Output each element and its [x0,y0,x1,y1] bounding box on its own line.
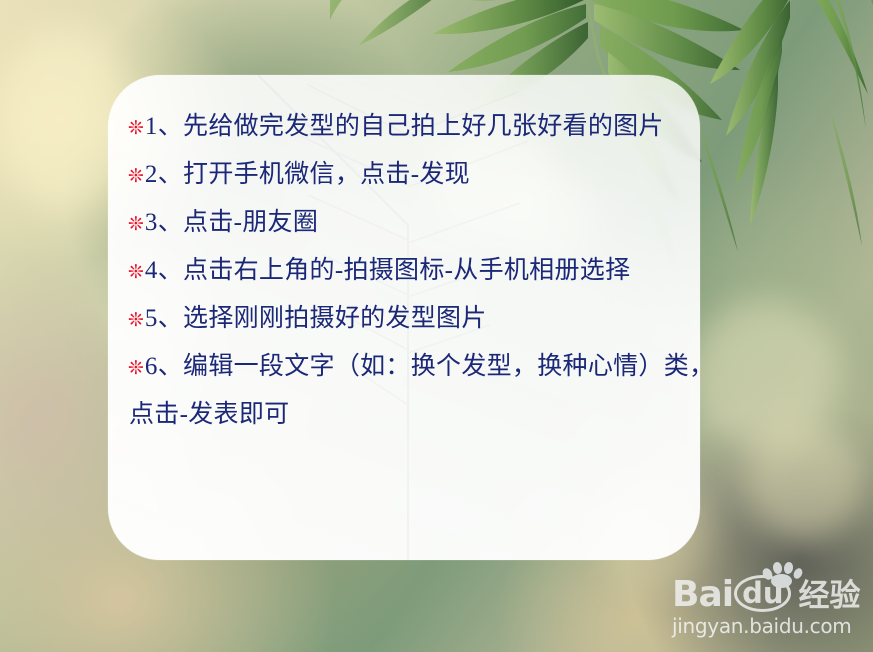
list-item-continuation: 点击-发表即可 [128,394,688,442]
paw-print-icon [760,561,802,587]
watermark-url: jingyan.baidu.com [672,614,862,638]
instruction-list: ❊ 1、先给做完发型的自己拍上好几张好看的图片 ❊ 2、打开手机微信，点击-发现… [128,106,688,442]
list-item: ❊ 4、点击右上角的-拍摄图标-从手机相册选择 [128,250,688,298]
list-item: ❊ 2、打开手机微信，点击-发现 [128,154,688,202]
list-item-text: 4、点击右上角的-拍摄图标-从手机相册选择 [145,250,630,286]
list-item-text: 6、编辑一段文字（如：换个发型，换种心情）类， [145,346,714,382]
list-item: ❊ 5、选择刚刚拍摄好的发型图片 [128,298,688,346]
watermark-cn-text: 经验 [798,580,860,612]
baidu-watermark: Bai du 经验 jingyan.baidu.com [672,572,862,640]
watermark-bai-text: Bai [672,578,733,612]
list-item: ❊ 1、先给做完发型的自己拍上好几张好看的图片 [128,106,688,154]
list-item: ❊ 3、点击-朋友圈 [128,202,688,250]
screenshot-canvas: ❊ 1、先给做完发型的自己拍上好几张好看的图片 ❊ 2、打开手机微信，点击-发现… [0,0,873,652]
list-item-text: 5、选择刚刚拍摄好的发型图片 [145,298,487,334]
list-item-text: 1、先给做完发型的自己拍上好几张好看的图片 [145,106,664,142]
flower-bullet-icon: ❊ [128,215,144,234]
list-item-text: 点击-发表即可 [129,394,289,430]
watermark-brand-row: Bai du 经验 [672,572,862,612]
flower-bullet-icon: ❊ [128,263,144,282]
list-item-text: 2、打开手机微信，点击-发现 [145,154,470,190]
list-item-text: 3、点击-朋友圈 [145,202,318,238]
flower-bullet-icon: ❊ [128,167,144,186]
flower-bullet-icon: ❊ [128,359,144,378]
list-item: ❊ 6、编辑一段文字（如：换个发型，换种心情）类， [128,346,688,394]
flower-bullet-icon: ❊ [128,119,144,138]
flower-bullet-icon: ❊ [128,311,144,330]
